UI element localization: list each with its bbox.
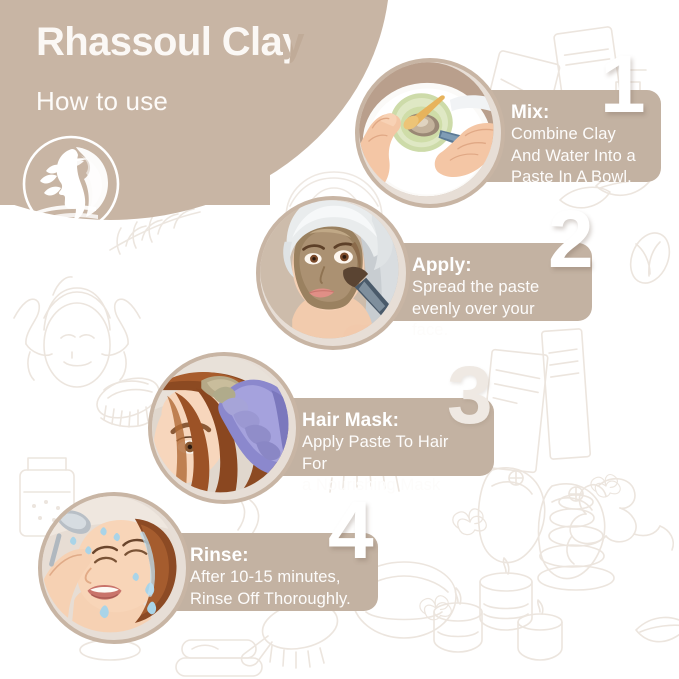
step-3-title: Hair Mask:	[302, 410, 476, 432]
brand-logo-icon	[20, 133, 122, 235]
step-1-desc-line-2: And Water Into a	[511, 146, 643, 167]
step-1-desc-line-3: Paste In A Bowl.	[511, 167, 643, 188]
step-1-title: Mix:	[511, 102, 643, 124]
step-3-desc-line-2: a Nourishing Mask	[302, 475, 476, 496]
towel-stack-line-art	[176, 640, 262, 676]
step-4-photo	[38, 492, 190, 644]
spa-slippers-line-art	[479, 468, 605, 579]
candles-line-art	[434, 558, 562, 660]
step-2-desc-line-2: evenly over your face.	[412, 299, 574, 342]
woman-facial-treatment-line-art	[14, 277, 140, 387]
step-1-desc-line-1: Combine Clay	[511, 124, 643, 145]
step-2-photo	[256, 196, 410, 350]
ginger-root-line-art	[567, 479, 673, 564]
step-4-title: Rinse:	[190, 545, 360, 567]
step-2-desc-line-1: Spread the paste	[412, 277, 574, 298]
step-2-title: Apply:	[412, 255, 574, 277]
infographic-root: Rhassoul Clay Rhassoul Clay How to use	[0, 0, 679, 679]
step-3-desc-line-1: Apply Paste To Hair For	[302, 432, 476, 475]
rolled-towel-line-art	[624, 227, 677, 289]
step-4-desc-line-2: Rinse Off Thoroughly.	[190, 589, 360, 610]
step-1-photo	[355, 58, 505, 208]
leaf-line-art	[636, 617, 679, 641]
step-4-desc-line-1: After 10-15 minutes,	[190, 567, 360, 588]
step-3-photo	[148, 352, 300, 504]
stacked-stones-line-art	[538, 495, 614, 590]
